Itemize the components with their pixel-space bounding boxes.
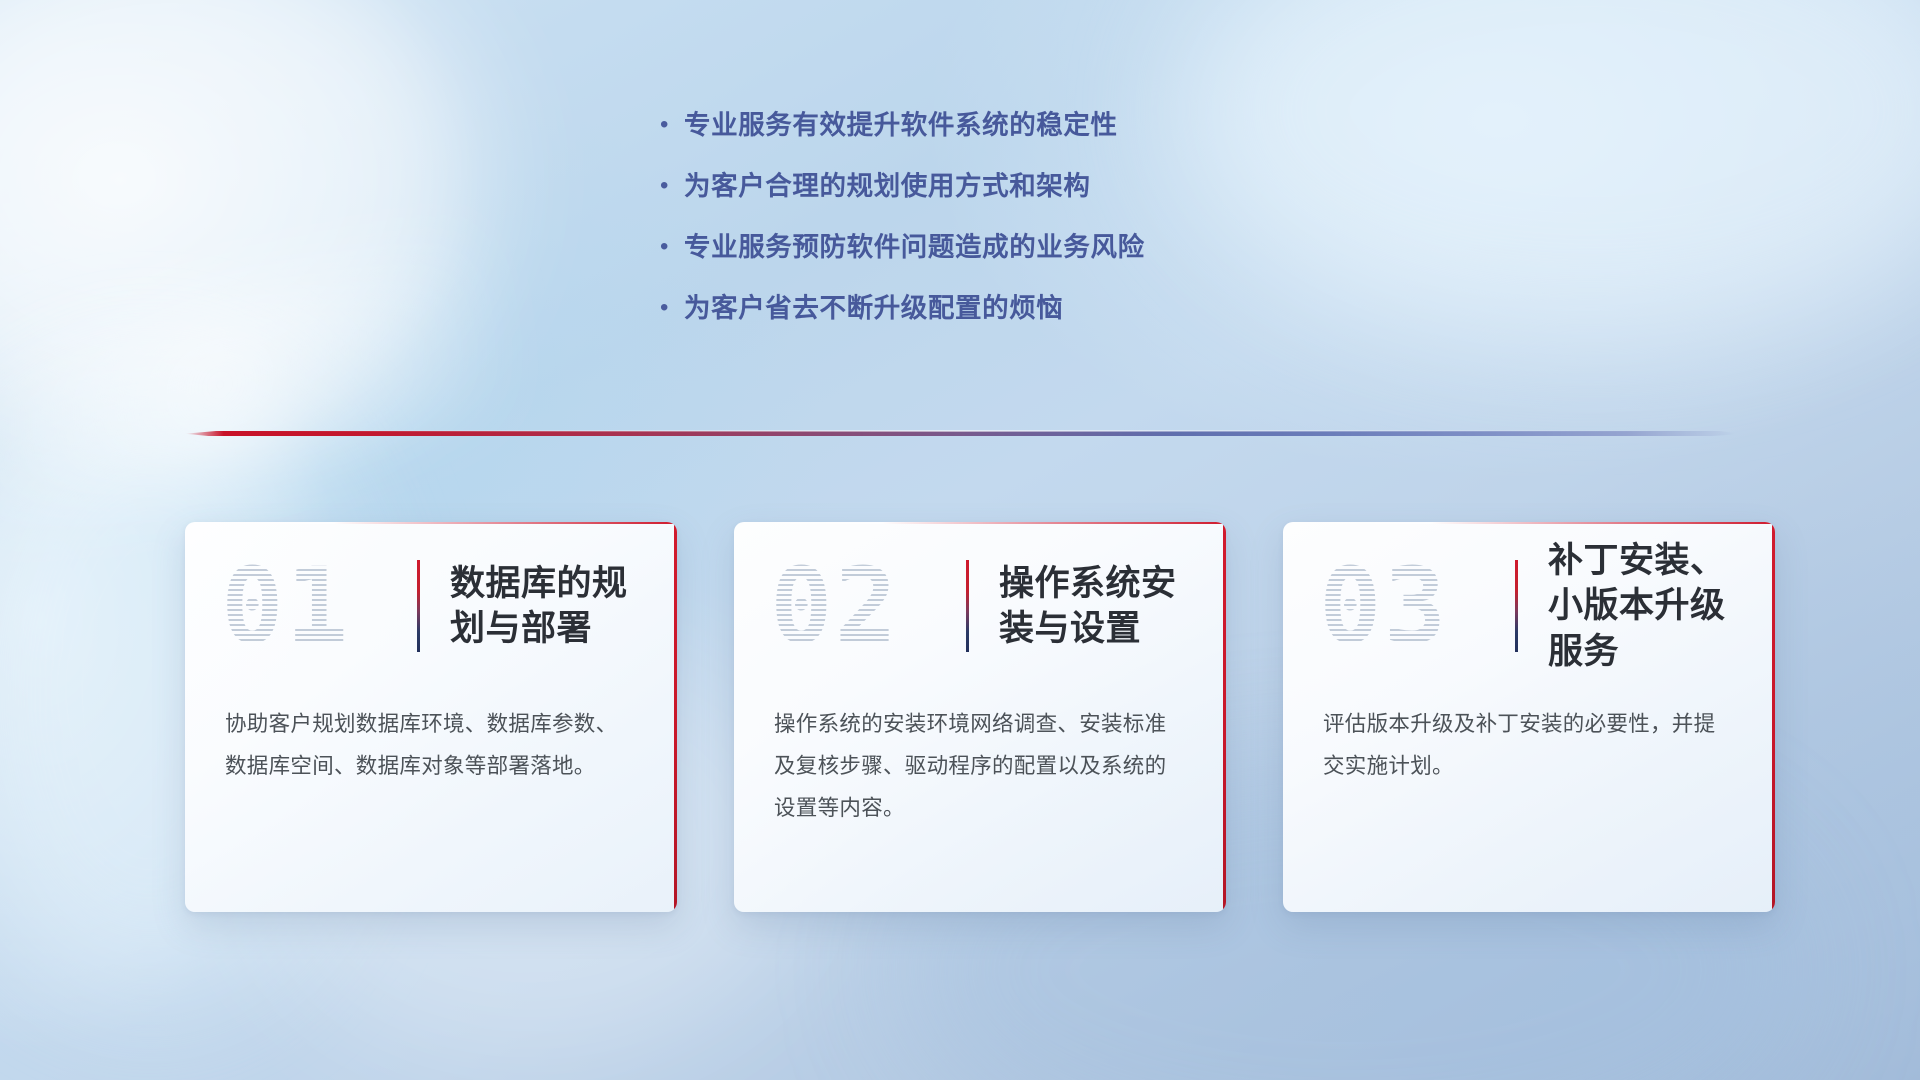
- card-title-divider: [417, 560, 420, 652]
- list-item: • 为客户合理的规划使用方式和架构: [660, 169, 1420, 203]
- card-description: 评估版本升级及补丁安装的必要性，并提交实施计划。: [1283, 690, 1775, 788]
- bullet-text: 为客户合理的规划使用方式和架构: [684, 169, 1091, 203]
- background-glow-top-left: [0, 0, 480, 440]
- bullet-dot-icon: •: [660, 169, 684, 203]
- card-description: 操作系统的安装环境网络调查、安装标准及复核步骤、驱动程序的配置以及系统的设置等内…: [734, 690, 1226, 830]
- list-item: • 专业服务预防软件问题造成的业务风险: [660, 230, 1420, 264]
- card-title-divider: [966, 560, 969, 652]
- background-light-streak: [0, 235, 512, 535]
- card-number-watermark: 03: [1319, 554, 1515, 658]
- service-card-02[interactable]: 02 操作系统安装与设置 操作系统的安装环境网络调查、安装标准及复核步骤、驱动程…: [734, 522, 1226, 912]
- card-number-watermark: 01: [221, 554, 417, 658]
- divider-highlight: [247, 430, 1673, 432]
- benefits-bullet-list: • 专业服务有效提升软件系统的稳定性 • 为客户合理的规划使用方式和架构 • 专…: [660, 108, 1420, 352]
- card-title-divider: [1515, 560, 1518, 652]
- bullet-dot-icon: •: [660, 108, 684, 142]
- card-title: 数据库的规划与部署: [450, 561, 643, 652]
- bullet-dot-icon: •: [660, 230, 684, 264]
- service-card-group: 01 数据库的规划与部署 协助客户规划数据库环境、数据库参数、数据库空间、数据库…: [185, 522, 1775, 912]
- list-item: • 为客户省去不断升级配置的烦恼: [660, 291, 1420, 325]
- service-card-01[interactable]: 01 数据库的规划与部署 协助客户规划数据库环境、数据库参数、数据库空间、数据库…: [185, 522, 677, 912]
- card-description: 协助客户规划数据库环境、数据库参数、数据库空间、数据库对象等部署落地。: [185, 690, 677, 788]
- bullet-text: 专业服务有效提升软件系统的稳定性: [684, 108, 1118, 142]
- bullet-text: 专业服务预防软件问题造成的业务风险: [684, 230, 1145, 264]
- section-divider: [185, 430, 1735, 438]
- card-header: 02 操作系统安装与设置: [734, 522, 1226, 690]
- card-title: 操作系统安装与设置: [999, 561, 1192, 652]
- slide-canvas: • 专业服务有效提升软件系统的稳定性 • 为客户合理的规划使用方式和架构 • 专…: [0, 0, 1920, 1080]
- service-card-03[interactable]: 03 补丁安装、小版本升级服务 评估版本升级及补丁安装的必要性，并提交实施计划。: [1283, 522, 1775, 912]
- card-header: 01 数据库的规划与部署: [185, 522, 677, 690]
- list-item: • 专业服务有效提升软件系统的稳定性: [660, 108, 1420, 142]
- card-header: 03 补丁安装、小版本升级服务: [1283, 522, 1775, 690]
- bullet-dot-icon: •: [660, 291, 684, 325]
- card-number-watermark: 02: [770, 554, 966, 658]
- bullet-text: 为客户省去不断升级配置的烦恼: [684, 291, 1063, 325]
- card-title: 补丁安装、小版本升级服务: [1548, 538, 1741, 675]
